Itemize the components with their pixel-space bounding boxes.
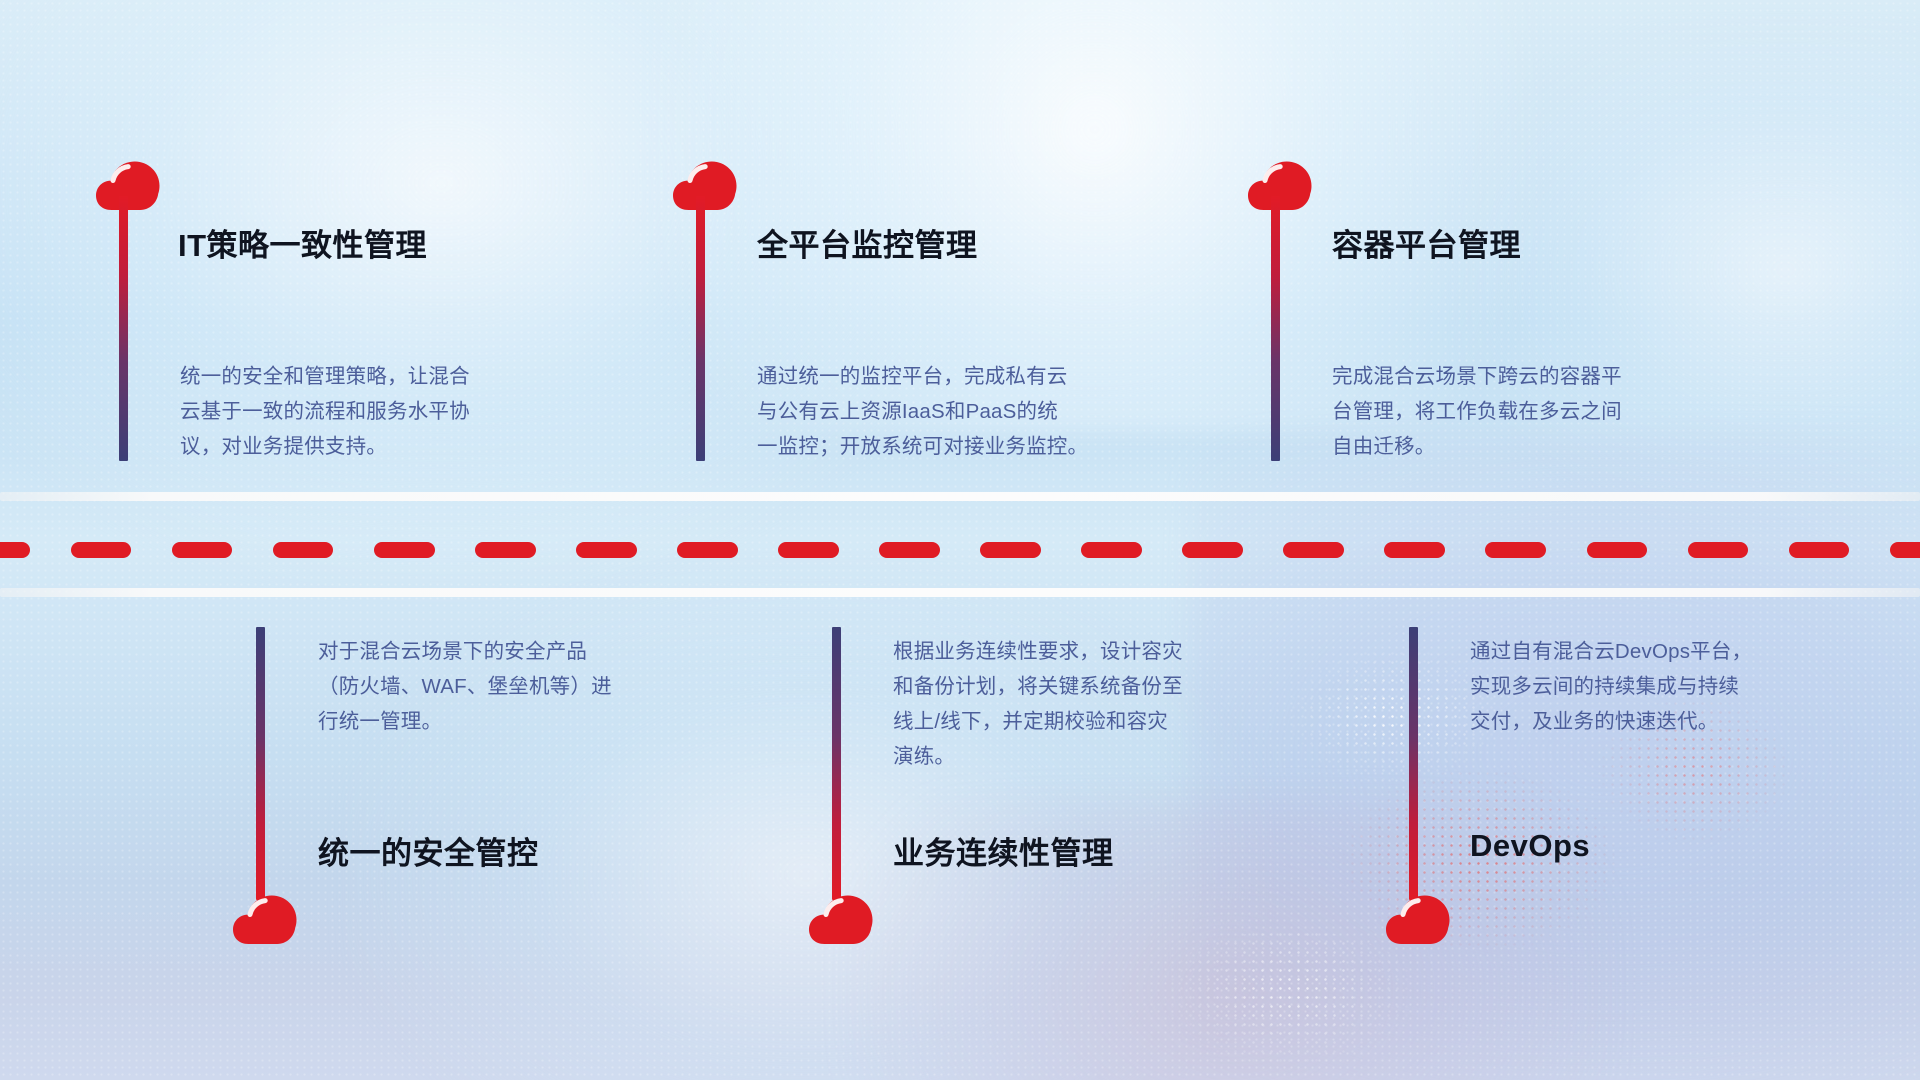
node-heading: 全平台监控管理 — [757, 220, 978, 265]
connector-stem — [1409, 627, 1418, 900]
cloud-icon — [808, 894, 874, 951]
road-dash — [879, 542, 940, 558]
dot-cluster-decoration — [1150, 930, 1430, 1080]
road-dash — [1789, 542, 1850, 558]
road-dash — [374, 542, 435, 558]
road-dash — [273, 542, 334, 558]
node-body-text: 通过自有混合云DevOps平台， 实现多云间的持续集成与持续 交付，及业务的快速… — [1470, 634, 1910, 739]
road-dash — [1081, 542, 1142, 558]
road-dash — [1688, 542, 1749, 558]
hybrid-cloud-capability-diagram: IT策略一致性管理 统一的安全和管理策略，让混合 云基于一致的流程和服务水平协 … — [0, 0, 1920, 1080]
node-body-text: 根据业务连续性要求，设计容灾 和备份计划，将关键系统备份至 线上/线下，并定期校… — [893, 634, 1343, 774]
node-body-text: 对于混合云场景下的安全产品 （防火墙、WAF、堡垒机等）进 行统一管理。 — [318, 634, 758, 739]
cloud-icon — [232, 894, 298, 951]
road-dash — [1182, 542, 1243, 558]
road-dash — [1283, 542, 1344, 558]
node-body-text: 完成混合云场景下跨云的容器平 台管理，将工作负载在多云之间 自由迁移。 — [1332, 359, 1782, 464]
connector-stem — [256, 627, 265, 900]
node-body-text: 统一的安全和管理策略，让混合 云基于一致的流程和服务水平协 议，对业务提供支持。 — [180, 359, 620, 464]
cloud-icon — [1385, 894, 1451, 951]
road-dash — [1890, 542, 1920, 558]
connector-stem — [1271, 196, 1280, 461]
road-dash — [475, 542, 536, 558]
road-dash — [71, 542, 132, 558]
road-dash — [980, 542, 1041, 558]
road-dash — [0, 542, 30, 558]
road-dashed-centerline — [0, 542, 1920, 558]
node-heading: IT策略一致性管理 — [178, 220, 427, 265]
node-heading: 业务连续性管理 — [893, 828, 1114, 873]
connector-stem — [696, 196, 705, 461]
node-heading: 统一的安全管控 — [318, 828, 539, 873]
road-edge-top — [0, 492, 1920, 501]
road-dash — [576, 542, 637, 558]
road-edge-bottom — [0, 588, 1920, 597]
road-dash — [677, 542, 738, 558]
road-dash — [1384, 542, 1445, 558]
road-dash — [1587, 542, 1648, 558]
cloud-icon — [672, 160, 738, 217]
cloud-icon — [95, 160, 161, 217]
connector-stem — [832, 627, 841, 900]
road-dash — [1485, 542, 1546, 558]
connector-stem — [119, 196, 128, 461]
road-dash — [778, 542, 839, 558]
cloud-icon — [1247, 160, 1313, 217]
node-heading: DevOps — [1470, 828, 1590, 864]
node-heading: 容器平台管理 — [1332, 220, 1521, 265]
node-body-text: 通过统一的监控平台，完成私有云 与公有云上资源IaaS和PaaS的统 一监控；开… — [757, 359, 1217, 464]
road-dash — [172, 542, 233, 558]
